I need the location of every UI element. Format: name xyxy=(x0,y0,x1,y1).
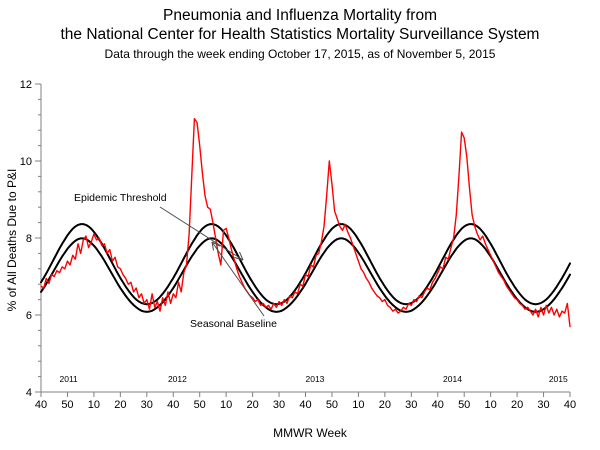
x-axis-year-label: 2014 xyxy=(443,374,462,384)
y-axis-tick-label: 6 xyxy=(26,310,32,322)
x-axis-tick-label: 50 xyxy=(194,399,206,411)
x-axis-tick-label: 20 xyxy=(379,399,391,411)
x-axis-year-label: 2012 xyxy=(168,374,187,384)
x-axis-tick-label: 20 xyxy=(511,399,523,411)
x-axis-tick-label: 40 xyxy=(432,399,444,411)
data-series-group xyxy=(41,119,570,327)
y-axis: 4681012 xyxy=(20,79,41,399)
y-axis-title: % of All Deaths Due to P&I xyxy=(5,169,19,312)
x-axis-tick-label: 10 xyxy=(352,399,364,411)
x-axis-tick-label: 30 xyxy=(141,399,153,411)
x-axis-year-label: 2015 xyxy=(549,374,568,384)
x-axis-tick-label: 20 xyxy=(246,399,258,411)
x-axis-tick-label: 10 xyxy=(485,399,497,411)
y-axis-tick-label: 4 xyxy=(26,387,32,399)
x-axis-tick-label: 30 xyxy=(405,399,417,411)
x-axis-tick-label: 50 xyxy=(458,399,470,411)
seasonal-baseline-label: Seasonal Baseline xyxy=(190,318,277,330)
x-axis-tick-label: 50 xyxy=(326,399,338,411)
x-axis-tick-label: 40 xyxy=(299,399,311,411)
x-axis-tick-label: 20 xyxy=(114,399,126,411)
x-axis: 4050102030405010203040501020304050102030… xyxy=(35,374,576,411)
x-axis-tick-label: 40 xyxy=(35,399,47,411)
epidemic-threshold-arrow xyxy=(160,207,243,260)
x-axis-year-label: 2011 xyxy=(60,374,79,384)
x-axis-tick-label: 10 xyxy=(220,399,232,411)
x-axis-tick-label: 50 xyxy=(61,399,73,411)
x-axis-tick-label: 10 xyxy=(88,399,100,411)
y-axis-tick-label: 10 xyxy=(20,156,32,168)
x-axis-tick-label: 40 xyxy=(167,399,179,411)
chart-root: Pneumonia and Influenza Mortality from t… xyxy=(0,0,600,450)
epidemic-threshold-label: Epidemic Threshold xyxy=(74,192,167,204)
x-axis-title: MMWR Week xyxy=(273,426,348,440)
y-axis-tick-label: 12 xyxy=(20,79,32,91)
x-axis-year-label: 2013 xyxy=(306,374,325,384)
x-axis-tick-label: 30 xyxy=(537,399,549,411)
y-axis-tick-label: 8 xyxy=(26,233,32,245)
x-axis-tick-label: 40 xyxy=(564,399,576,411)
series-epidemic-threshold xyxy=(41,224,570,304)
x-axis-tick-label: 30 xyxy=(273,399,285,411)
plot-svg: 4681012 40501020304050102030405010203040… xyxy=(0,0,600,450)
seasonal-baseline-arrow xyxy=(212,242,264,316)
series-observed-p-i-mortality xyxy=(41,119,570,327)
